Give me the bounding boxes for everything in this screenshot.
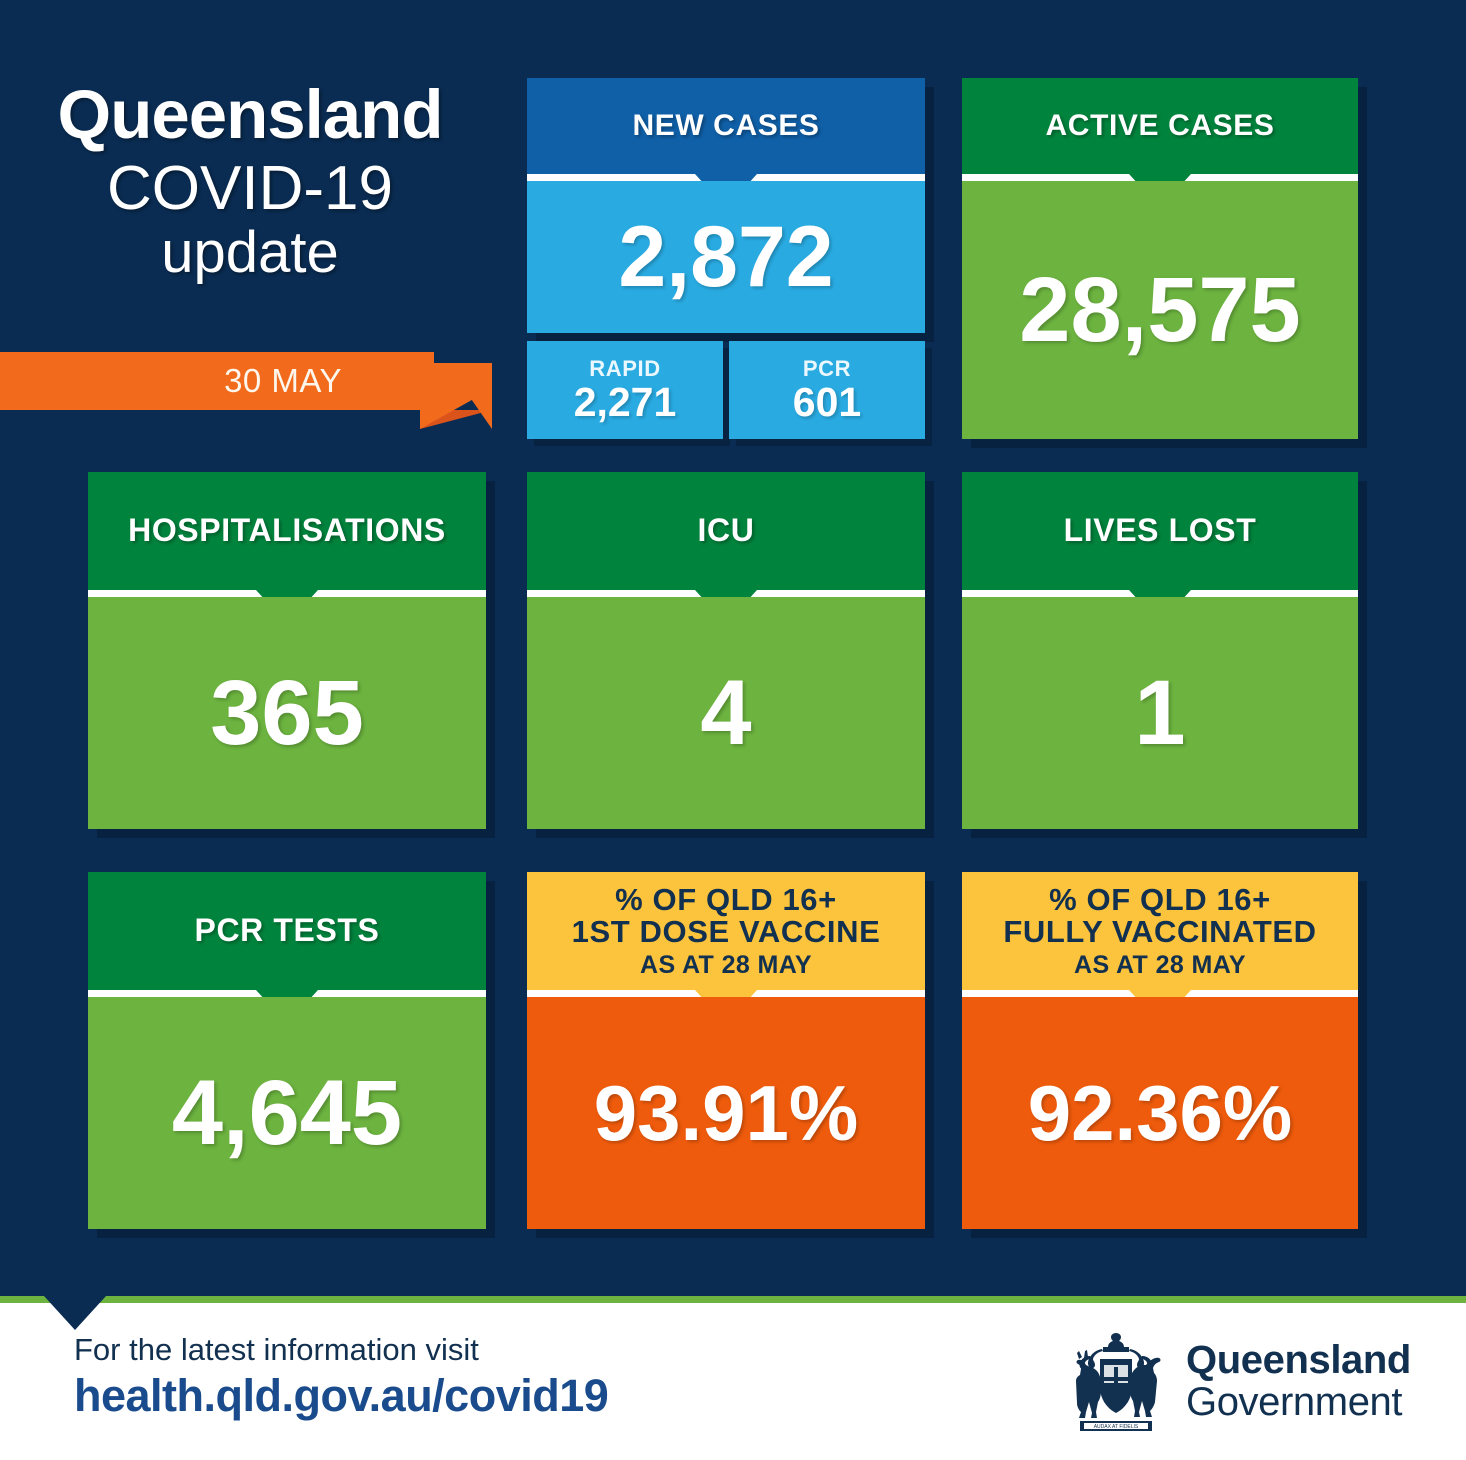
date-badge-label: 30 MAY <box>0 352 420 410</box>
page-title-line-1: Queensland <box>0 80 500 149</box>
card-sublabel: AS AT 28 MAY <box>640 952 812 978</box>
card-body-lives-lost: 1 <box>962 597 1358 829</box>
card-body-new-cases: 2,872 <box>527 181 925 333</box>
stat-card-first-dose-vaccine: % OF QLD 16+ 1ST DOSE VACCINE AS AT 28 M… <box>527 872 925 1229</box>
card-label-line-1: % OF QLD 16+ <box>615 884 837 916</box>
stat-card-new-cases: NEW CASES 2,872 <box>527 78 925 333</box>
card-body-pcr-tests: 4,645 <box>88 997 486 1229</box>
page-title-line-3: update <box>0 224 500 282</box>
card-body-first-dose: 93.91% <box>527 997 925 1229</box>
card-value: 4,645 <box>172 1067 402 1159</box>
page-title-line-2: COVID-19 <box>0 158 500 220</box>
date-ribbon: 30 MAY <box>0 352 492 418</box>
footer-divider-rule <box>0 1296 1466 1303</box>
stat-card-lives-lost: LIVES LOST 1 <box>962 472 1358 829</box>
card-divider <box>527 590 925 597</box>
stat-card-active-cases: ACTIVE CASES 28,575 <box>962 78 1358 439</box>
card-header-pcr-tests: PCR TESTS <box>88 872 486 990</box>
card-divider <box>962 990 1358 997</box>
logo-line-government: Government <box>1186 1381 1411 1423</box>
card-value: 2,872 <box>618 214 833 300</box>
breakdown-value: 2,271 <box>574 381 677 424</box>
svg-text:AUDAX AT FIDELIS: AUDAX AT FIDELIS <box>1094 1424 1139 1430</box>
card-divider <box>88 590 486 597</box>
card-header-icu: ICU <box>527 472 925 590</box>
card-value: 4 <box>700 667 751 759</box>
stat-card-icu: ICU 4 <box>527 472 925 829</box>
card-value: 1 <box>1134 667 1185 759</box>
new-cases-breakdown: RAPID 2,271 PCR 601 <box>527 341 925 439</box>
card-divider <box>527 174 925 181</box>
card-label: LIVES LOST <box>1064 514 1257 547</box>
card-header-new-cases: NEW CASES <box>527 78 925 174</box>
card-body-hospitalisations: 365 <box>88 597 486 829</box>
queensland-government-logo: AUDAX AT FIDELIS Queensland Government <box>1060 1325 1412 1437</box>
logo-wordmark: Queensland Government <box>1186 1339 1411 1423</box>
breakdown-value: 601 <box>793 381 861 424</box>
chevron-down-notch-icon <box>44 1296 106 1336</box>
coat-of-arms-crest-icon: AUDAX AT FIDELIS <box>1060 1329 1172 1433</box>
footer-website-link[interactable]: health.qld.gov.au/covid19 <box>74 1370 608 1422</box>
card-sublabel: AS AT 28 MAY <box>1074 952 1246 978</box>
footer-text-block: For the latest information visit health.… <box>74 1332 608 1422</box>
card-divider <box>527 990 925 997</box>
card-label: ACTIVE CASES <box>1046 110 1275 141</box>
card-header-fully-vaccinated: % OF QLD 16+ FULLY VACCINATED AS AT 28 M… <box>962 872 1358 990</box>
card-header-lives-lost: LIVES LOST <box>962 472 1358 590</box>
logo-line-queensland: Queensland <box>1186 1339 1411 1381</box>
card-header-active-cases: ACTIVE CASES <box>962 78 1358 174</box>
card-value: 365 <box>210 667 364 759</box>
footer-caption: For the latest information visit <box>74 1332 608 1368</box>
card-label: ICU <box>698 514 755 547</box>
card-body-fully-vaccinated: 92.36% <box>962 997 1358 1229</box>
card-label: HOSPITALISATIONS <box>128 514 446 547</box>
breakdown-pcr: PCR 601 <box>729 341 925 439</box>
card-label-line-1: % OF QLD 16+ <box>1049 884 1271 916</box>
card-header-hospitalisations: HOSPITALISATIONS <box>88 472 486 590</box>
card-divider <box>962 174 1358 181</box>
card-header-first-dose: % OF QLD 16+ 1ST DOSE VACCINE AS AT 28 M… <box>527 872 925 990</box>
card-divider <box>962 590 1358 597</box>
card-label: NEW CASES <box>632 110 819 141</box>
card-value: 93.91% <box>594 1074 859 1152</box>
card-body-active-cases: 28,575 <box>962 181 1358 439</box>
card-label-line-2: 1ST DOSE VACCINE <box>572 916 881 948</box>
stat-card-fully-vaccinated: % OF QLD 16+ FULLY VACCINATED AS AT 28 M… <box>962 872 1358 1229</box>
stat-card-pcr-tests: PCR TESTS 4,645 <box>88 872 486 1229</box>
card-value: 92.36% <box>1028 1074 1293 1152</box>
card-label: PCR TESTS <box>195 914 380 947</box>
card-label-line-2: FULLY VACCINATED <box>1003 916 1316 948</box>
card-value: 28,575 <box>1019 264 1300 356</box>
breakdown-rapid: RAPID 2,271 <box>527 341 723 439</box>
stat-card-hospitalisations: HOSPITALISATIONS 365 <box>88 472 486 829</box>
card-body-icu: 4 <box>527 597 925 829</box>
card-divider <box>88 990 486 997</box>
